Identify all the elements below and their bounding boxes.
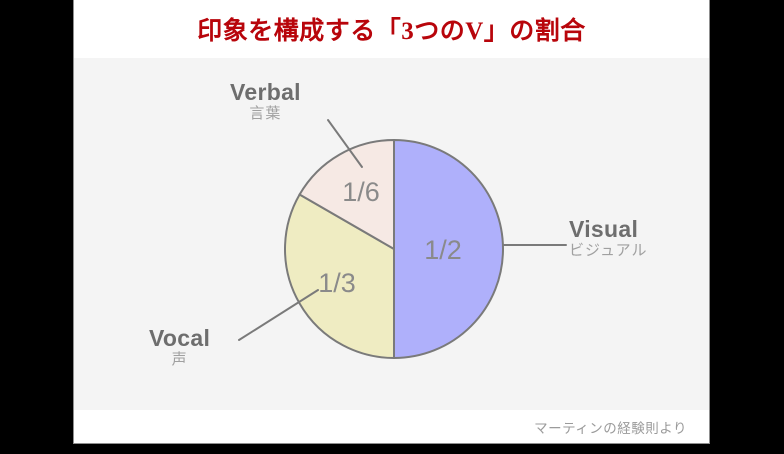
source-note: マーティンの経験則より <box>534 417 687 437</box>
pie-label-visual[interactable]: Visual ビジュアル <box>569 217 648 260</box>
title-band: 印象を構成する「3つのV」の割合 <box>74 0 709 58</box>
slide-card: 印象を構成する「3つのV」の割合 1/2 1/3 1/6 Verbal 言葉 <box>73 0 710 444</box>
footer-band: マーティンの経験則より <box>74 410 709 444</box>
screenshot-stage: 印象を構成する「3つのV」の割合 1/2 1/3 1/6 Verbal 言葉 <box>0 0 784 454</box>
pie-label-visual-en: Visual <box>569 217 648 243</box>
pie-label-verbal[interactable]: Verbal 言葉 <box>230 80 301 123</box>
pie-label-visual-ja: ビジュアル <box>569 243 648 260</box>
pie-label-vocal-ja: 声 <box>149 352 210 369</box>
pie-label-vocal-en: Vocal <box>149 326 210 352</box>
pie-label-verbal-ja: 言葉 <box>230 106 301 123</box>
pie-label-verbal-en: Verbal <box>230 80 301 106</box>
page-title: 印象を構成する「3つのV」の割合 <box>197 11 586 47</box>
pie-label-vocal[interactable]: Vocal 声 <box>149 326 210 369</box>
